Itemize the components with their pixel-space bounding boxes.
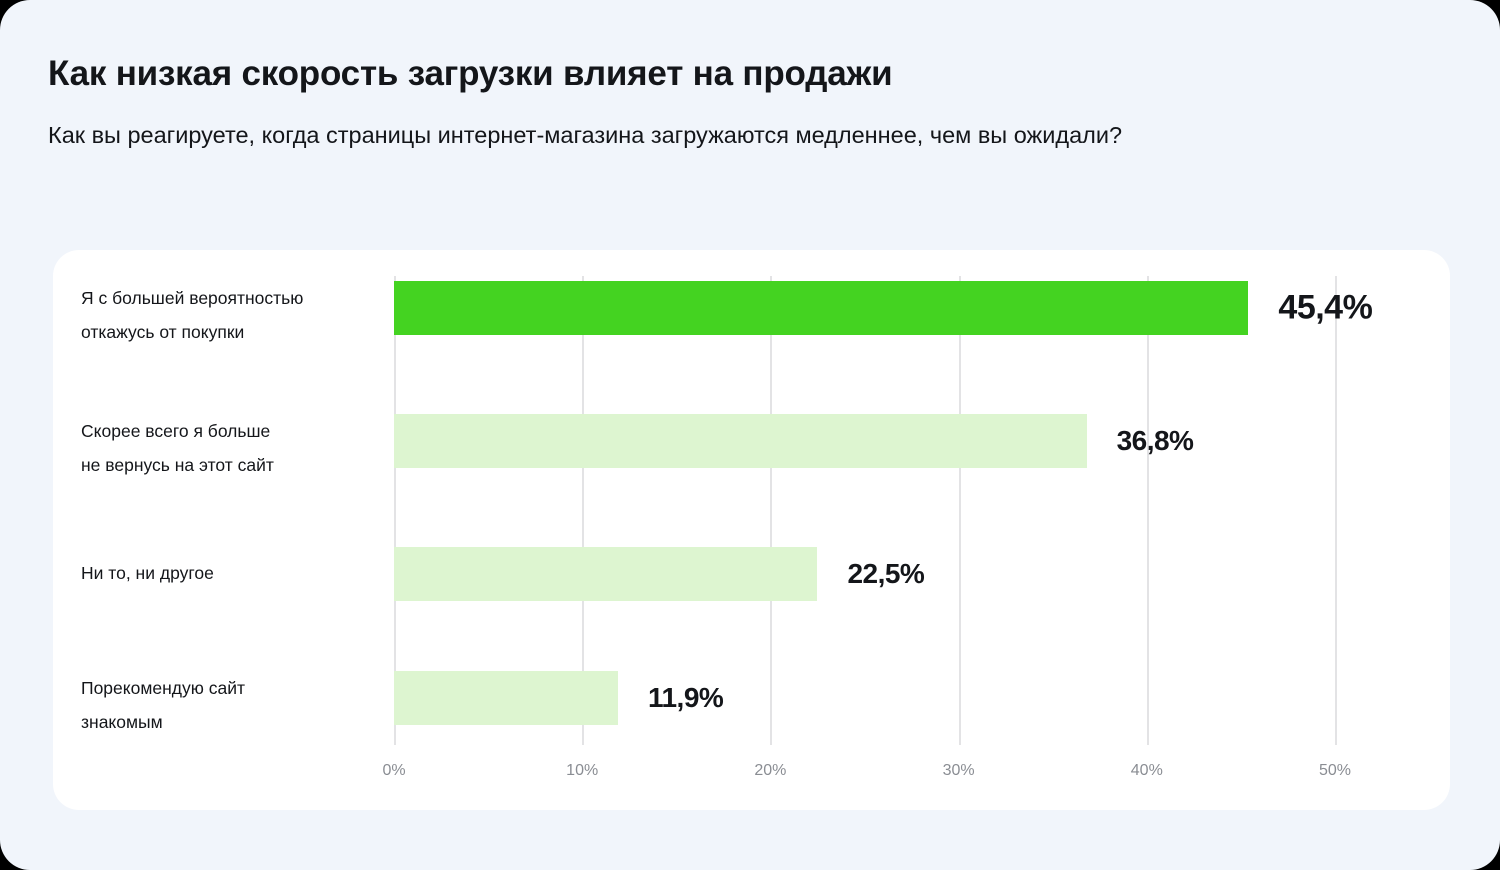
x-axis-tick: 40% bbox=[1131, 762, 1163, 780]
x-axis-tick: 20% bbox=[754, 762, 786, 780]
category-label: Скорее всего я большене вернусь на этот … bbox=[81, 414, 381, 482]
bar-row: 11,9% bbox=[394, 671, 1335, 725]
category-label-line: знакомым bbox=[81, 705, 381, 739]
bar-row: 22,5% bbox=[394, 547, 1335, 601]
bar-value-label: 11,9% bbox=[648, 682, 723, 714]
category-label: Ни то, ни другое bbox=[81, 556, 381, 590]
bar[interactable] bbox=[394, 547, 817, 601]
bar[interactable] bbox=[394, 281, 1248, 335]
x-axis-tick: 10% bbox=[566, 762, 598, 780]
infographic-page: Как низкая скорость загрузки влияет на п… bbox=[0, 0, 1500, 870]
bar-value-label: 45,4% bbox=[1278, 289, 1372, 328]
category-label: Я с большей вероятностьюоткажусь от поку… bbox=[81, 281, 381, 349]
bar[interactable] bbox=[394, 671, 618, 725]
category-label-line: не вернусь на этот сайт bbox=[81, 448, 381, 482]
gridline-50 bbox=[1335, 276, 1337, 745]
page-title: Как низкая скорость загрузки влияет на п… bbox=[48, 52, 1368, 96]
category-label-line: Я с большей вероятностью bbox=[81, 281, 381, 315]
x-axis-tick: 30% bbox=[943, 762, 975, 780]
x-axis-tick: 50% bbox=[1319, 762, 1351, 780]
x-axis-tick: 0% bbox=[382, 762, 405, 780]
category-label-line: Порекомендую сайт bbox=[81, 671, 381, 705]
chart-subtitle: Как вы реагируете, когда страницы интерн… bbox=[48, 114, 1288, 156]
category-label: Порекомендую сайтзнакомым bbox=[81, 671, 381, 739]
bar-value-label: 36,8% bbox=[1117, 425, 1194, 457]
category-label-line: откажусь от покупки bbox=[81, 315, 381, 349]
chart-card: 45,4%Я с большей вероятностьюоткажусь от… bbox=[53, 250, 1450, 810]
bar-value-label: 22,5% bbox=[847, 558, 924, 590]
bar[interactable] bbox=[394, 414, 1087, 468]
bar-row: 45,4% bbox=[394, 281, 1335, 335]
category-label-line: Скорее всего я больше bbox=[81, 414, 381, 448]
category-label-line: Ни то, ни другое bbox=[81, 556, 381, 590]
chart-header: Как низкая скорость загрузки влияет на п… bbox=[48, 52, 1368, 156]
bar-row: 36,8% bbox=[394, 414, 1335, 468]
